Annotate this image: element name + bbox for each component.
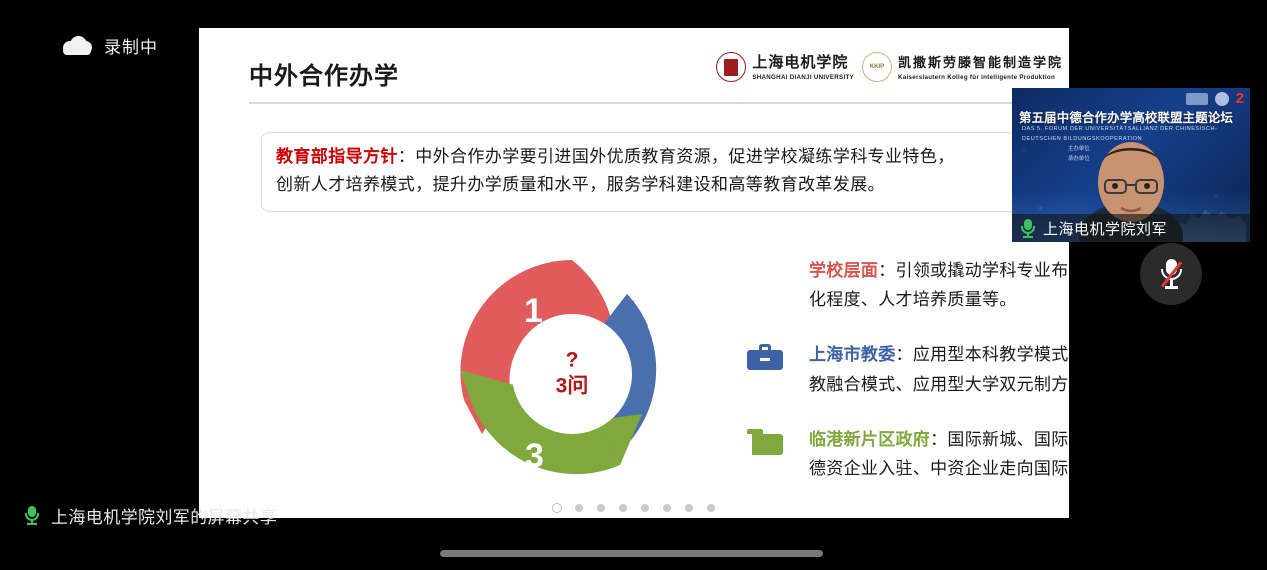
screen-share-label: 上海电机学院刘军的屏幕共享 <box>51 503 277 528</box>
slide-dot[interactable] <box>707 504 715 512</box>
logo-kaiserslautern: KKIP 凯撒斯劳滕智能制造学院 Kaiserslautern Kolleg f… <box>862 52 1063 82</box>
emblem-icon <box>1215 92 1229 106</box>
logo-shanghai-dianji: 上海电机学院 SHANGHAI DIANJI UNIVERSITY <box>716 52 854 82</box>
logo-label-cn: 上海电机学院 <box>752 54 848 71</box>
slide-dot[interactable] <box>575 504 583 512</box>
bullet-separator: ： <box>930 430 947 449</box>
scrollbar-thumb[interactable] <box>440 550 823 557</box>
briefcase-icon <box>747 340 787 398</box>
slide-dot[interactable] <box>663 504 671 512</box>
anniversary-logo-icon: 2 <box>1236 91 1244 106</box>
cycle-center-text: 3问 <box>556 372 589 400</box>
logo-label-en: SHANGHAI DIANJI UNIVERSITY <box>752 74 854 81</box>
bullet-list: 学校层面：引领或撬动学科专业布局、国际 化程度、人才培养质量等。 上海市教委：应… <box>747 256 1069 509</box>
bullet-text: 临港新片区政府：国际新城、国际化人才、 德资企业入驻、中资企业走向国际等。 <box>809 425 1069 483</box>
mute-button[interactable] <box>1140 243 1202 305</box>
slide-dot[interactable] <box>685 504 693 512</box>
bullet-line-2: 化程度、人才培养质量等。 <box>809 290 1017 309</box>
zoom-screen-share-view: 录制中 中外合作办学 上海电机学院 SHANGHAI DIANJI UNIVER… <box>0 0 1267 570</box>
quote-line-2: 创新人才培养模式，提升办学质量和水平，服务学科建设和高等教育改革发展。 <box>276 171 1046 199</box>
bullet-separator: ： <box>878 261 895 280</box>
slide-pagination-dots[interactable] <box>553 504 715 512</box>
envelope-icon <box>747 256 787 314</box>
mic-muted-icon <box>1159 259 1183 289</box>
quote-line-1: 教育部指导方针：中外合作办学要引进国外优质教育资源，促进学校凝练学科专业特色， <box>276 143 1046 171</box>
cycle-number-3: 3 <box>525 437 544 475</box>
horizontal-scrollbar[interactable] <box>440 550 823 557</box>
title-divider <box>249 102 1059 104</box>
quote-key: 教育部指导方针 <box>276 147 398 166</box>
slide-dot[interactable] <box>619 504 627 512</box>
recording-indicator: 录制中 <box>62 33 158 58</box>
bullet-line-1: 应用型本科教学模式、德国产 <box>913 345 1069 364</box>
bullet-key: 上海市教委 <box>809 345 896 364</box>
cycle-number-1: 1 <box>524 292 543 330</box>
bullet-key: 临港新片区政府 <box>809 430 930 449</box>
virtual-background-logos: 2 <box>1186 91 1244 106</box>
slide-logos: 上海电机学院 SHANGHAI DIANJI UNIVERSITY KKIP 凯… <box>716 52 1063 82</box>
logo-label-en: Kaiserslautern Kolleg für Intelligente P… <box>898 74 1063 81</box>
bullet-line-1: 国际新城、国际化人才、 <box>947 430 1069 449</box>
cycle-center-question: ? <box>556 349 589 370</box>
list-item: 临港新片区政府：国际新城、国际化人才、 德资企业入驻、中资企业走向国际等。 <box>747 425 1069 483</box>
cycle-number-2: 2 <box>611 362 630 400</box>
cloud-icon <box>62 36 92 56</box>
bullet-line-2: 教融合模式、应用型大学双元制方案等。 <box>809 375 1069 394</box>
shared-slide[interactable]: 中外合作办学 上海电机学院 SHANGHAI DIANJI UNIVERSITY… <box>199 28 1069 518</box>
recording-label: 录制中 <box>104 33 158 58</box>
list-item: 上海市教委：应用型本科教学模式、德国产 教融合模式、应用型大学双元制方案等。 <box>747 340 1069 398</box>
three-question-cycle-diagram: 1 2 3 ? 3问 <box>452 252 692 497</box>
list-item: 学校层面：引领或撬动学科专业布局、国际 化程度、人才培养质量等。 <box>747 256 1069 314</box>
bullet-text: 学校层面：引领或撬动学科专业布局、国际 化程度、人才培养质量等。 <box>809 256 1069 314</box>
folder-icon <box>747 425 787 483</box>
slide-dot[interactable] <box>641 504 649 512</box>
mic-icon <box>24 506 39 525</box>
screen-share-status-bar: 上海电机学院刘军的屏幕共享 <box>0 497 291 534</box>
bullet-line-2: 德资企业入驻、中资企业走向国际等。 <box>809 459 1069 478</box>
bullet-line-1: 引领或撬动学科专业布局、国际 <box>896 261 1069 280</box>
mic-icon <box>1020 219 1035 238</box>
slide-dot[interactable] <box>597 504 605 512</box>
participant-name: 上海电机学院刘军 <box>1043 218 1167 239</box>
slide-dot[interactable] <box>553 504 561 512</box>
sponsor-logo-icon <box>1186 93 1208 105</box>
policy-quote-box: 教育部指导方针：中外合作办学要引进国外优质教育资源，促进学校凝练学科专业特色， … <box>261 132 1061 212</box>
participant-name-bar: 上海电机学院刘军 <box>1012 214 1250 242</box>
bullet-key: 学校层面 <box>809 261 878 280</box>
logo-label-cn: 凯撒斯劳滕智能制造学院 <box>898 55 1063 70</box>
participant-video-tile[interactable]: 2 第五届中德合作办学高校联盟主题论坛 DAS 5. FORUM DER UNI… <box>1012 88 1250 242</box>
quote-separator: ： <box>398 147 415 166</box>
kkip-seal-icon: KKIP <box>862 52 892 82</box>
quote-text-1: 中外合作办学要引进国外优质教育资源，促进学校凝练学科专业特色， <box>415 147 954 166</box>
university-seal-icon <box>716 52 746 82</box>
cycle-center-label: ? 3问 <box>556 349 589 400</box>
bullet-text: 上海市教委：应用型本科教学模式、德国产 教融合模式、应用型大学双元制方案等。 <box>809 340 1069 398</box>
bullet-separator: ： <box>896 345 913 364</box>
